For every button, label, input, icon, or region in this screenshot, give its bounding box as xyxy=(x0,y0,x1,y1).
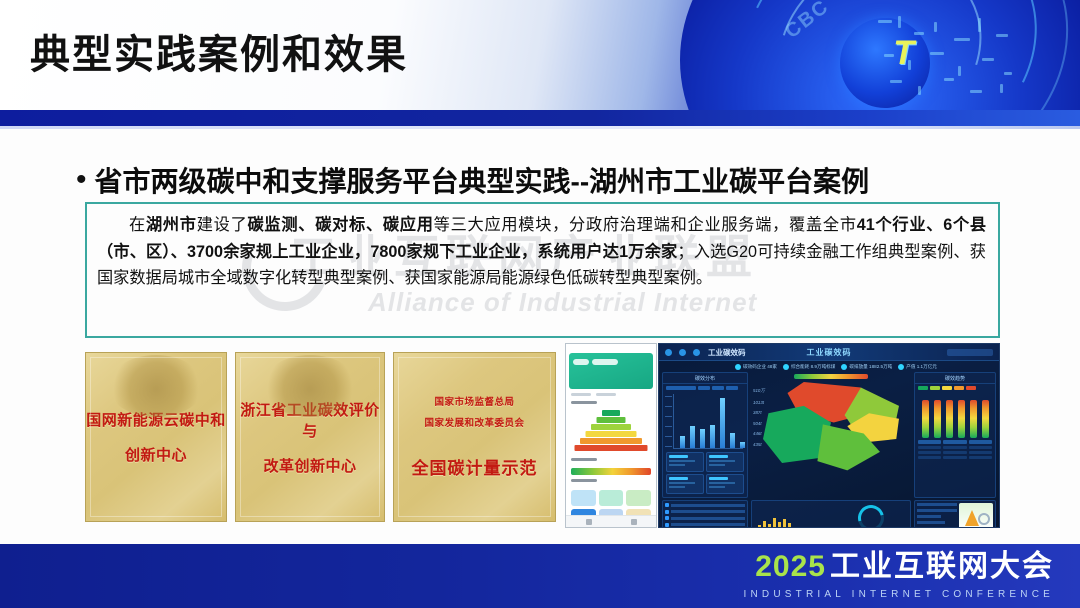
phone-section-apps xyxy=(566,477,656,487)
panel-carbon-map: 510万1013t387t504t446t435t xyxy=(751,372,911,498)
stacked-bar xyxy=(958,400,965,438)
kpi-label: 产值 1.1万亿元 xyxy=(906,364,937,370)
certificate-card-guowang[interactable]: 国网新能源云碳中和 创新中心 xyxy=(85,352,227,522)
stacked-bar-chart-carbon-trend xyxy=(915,392,995,438)
card-3-line-1: 国家市场监督总局 xyxy=(434,396,514,411)
bar xyxy=(710,425,715,448)
dial-icon xyxy=(978,513,990,525)
stacked-bar xyxy=(970,400,977,438)
kpi-dot-icon xyxy=(841,364,847,370)
slide-footer: 2025 工业互联网大会 INDUSTRIAL INTERNET CONFERE… xyxy=(0,544,1080,608)
kpi-label: 碳效码企业 48家 xyxy=(743,364,777,370)
kpi-label: 碳排放量 1882.5万吨 xyxy=(849,364,892,370)
panel-carbon-analysis xyxy=(914,500,996,528)
sparkline-bars xyxy=(758,516,791,528)
dashboard-search-box[interactable] xyxy=(947,349,993,356)
dashboard-center-title: 工业碳效码 xyxy=(807,347,852,358)
dashboard-logo-icons xyxy=(665,349,700,356)
panel-left-title: 碳效分布 xyxy=(663,373,747,384)
panel-right-title: 碳效趋势 xyxy=(915,373,995,384)
certificate-card-zhejiang[interactable]: 浙江省工业碳效评价与 改革创新中心 xyxy=(235,352,385,522)
phone-header-card xyxy=(569,353,653,389)
bar xyxy=(690,426,695,448)
phone-bottom-nav[interactable] xyxy=(566,515,656,527)
card-2-line-2: 改革创新中心 xyxy=(263,455,356,476)
phone-header-pills xyxy=(573,359,649,365)
stacked-bar xyxy=(934,400,941,438)
header-band-highlight xyxy=(0,126,1080,129)
certificate-card-carbon-metering[interactable]: 国家市场监督总局 国家发展和改革委员会 全国碳计量示范 xyxy=(393,352,556,522)
panel-carbon-monitoring xyxy=(751,500,911,528)
carbon-dashboard-screenshot[interactable]: 工业碳效码 工业碳效码 碳效码企业 48家综合能耗 8.9万吨标煤碳排放量 18… xyxy=(658,343,1000,528)
dashboard-footer-panels xyxy=(659,498,999,528)
bar-chart-carbon-distribution xyxy=(673,394,743,449)
panel-metric-cards xyxy=(663,449,747,497)
slide-header: CBC T 典型实践案例和效果 xyxy=(0,0,1080,110)
panel-carbon-ranking xyxy=(662,500,748,528)
phone-status-bar xyxy=(566,344,656,352)
phone-section-scale xyxy=(566,456,656,466)
bar xyxy=(680,436,685,448)
analysis-gauge-card xyxy=(959,503,993,528)
emblem-icon xyxy=(108,355,204,417)
kpi-dot-icon xyxy=(735,364,741,370)
kpi-label: 综合能耗 8.9万吨标煤 xyxy=(791,364,835,370)
trend-legend-chips xyxy=(915,384,995,392)
dashboard-kpi: 碳效码企业 48家 xyxy=(735,364,777,370)
kpi-dot-icon xyxy=(898,364,904,370)
dashboard-kpi: 产值 1.1万亿元 xyxy=(898,364,937,370)
phone-section-rating xyxy=(566,399,656,409)
bullet-icon: • xyxy=(76,165,87,195)
dashboard-kpi-row: 碳效码企业 48家综合能耗 8.9万吨标煤碳排放量 1882.5万吨产值 1.1… xyxy=(659,361,999,372)
pyramid-icon xyxy=(965,510,979,526)
certificate-cards: 国网新能源云碳中和 创新中心 浙江省工业碳效评价与 改革创新中心 国家市场监督总… xyxy=(85,352,556,522)
conference-name-en: INDUSTRIAL INTERNET CONFERENCE xyxy=(744,589,1054,600)
mobile-app-screenshot[interactable] xyxy=(565,343,657,528)
conference-logo: 2025 工业互联网大会 INDUSTRIAL INTERNET CONFERE… xyxy=(744,552,1054,600)
bar xyxy=(720,398,725,448)
donut-gauge-chart xyxy=(853,500,889,528)
stacked-bar xyxy=(922,400,929,438)
panel-filter-chips[interactable] xyxy=(663,384,747,392)
kpi-dot-icon xyxy=(783,364,789,370)
conference-name-cn: 工业互联网大会 xyxy=(830,552,1054,582)
stacked-bar xyxy=(982,400,989,438)
panel-carbon-distribution: 碳效分布 xyxy=(662,372,748,498)
trend-data-table xyxy=(915,438,995,463)
bar xyxy=(700,429,705,448)
emblem-icon xyxy=(262,355,358,417)
page-title: 典型实践案例和效果 xyxy=(30,22,408,80)
card-1-line-2: 创新中心 xyxy=(125,444,187,465)
description-textbox: 在湖州市建设了碳监测、碳对标、碳应用等三大应用模块，分政府治理端和企业服务端，覆… xyxy=(85,202,1000,338)
dashboard-body: 碳效分布 510万1013t387t504t446t435t 碳效趋势 xyxy=(659,372,999,498)
card-3-line-2: 国家发展和改革委员会 xyxy=(424,417,524,432)
dashboard-header: 工业碳效码 工业碳效码 xyxy=(659,344,999,361)
description-paragraph: 在湖州市建设了碳监测、碳对标、碳应用等三大应用模块，分政府治理端和企业服务端，覆… xyxy=(97,212,986,292)
section-heading: • 省市两级碳中和支撑服务平台典型实践--湖州市工业碳平台案例 xyxy=(76,160,1036,200)
carbon-rating-pyramid-chart xyxy=(572,410,650,454)
phone-tabs[interactable] xyxy=(566,390,656,399)
section-heading-text: 省市两级碳中和支撑服务平台典型实践--湖州市工业碳平台案例 xyxy=(95,160,870,200)
conference-year: 2025 xyxy=(755,552,826,582)
card-3-title: 全国碳计量示范 xyxy=(412,454,538,479)
header-circuit-decoration xyxy=(874,14,1044,104)
slide-root: CBC T 典型实践案例和效果 • 省市两级碳中和支撑服务平台典型实践--湖州市… xyxy=(0,0,1080,608)
carbon-level-color-scale xyxy=(571,468,651,475)
header-blue-band xyxy=(0,110,1080,126)
dashboard-left-title: 工业碳效码 xyxy=(708,347,746,358)
choropleth-map-huzhou[interactable] xyxy=(763,382,899,474)
stacked-bar xyxy=(946,400,953,438)
bar xyxy=(730,433,735,448)
bar xyxy=(740,442,745,448)
dashboard-kpi: 碳排放量 1882.5万吨 xyxy=(841,364,892,370)
panel-carbon-trend: 碳效趋势 xyxy=(914,372,996,498)
map-legend-color-scale xyxy=(794,374,868,379)
dashboard-kpi: 综合能耗 8.9万吨标煤 xyxy=(783,364,835,370)
